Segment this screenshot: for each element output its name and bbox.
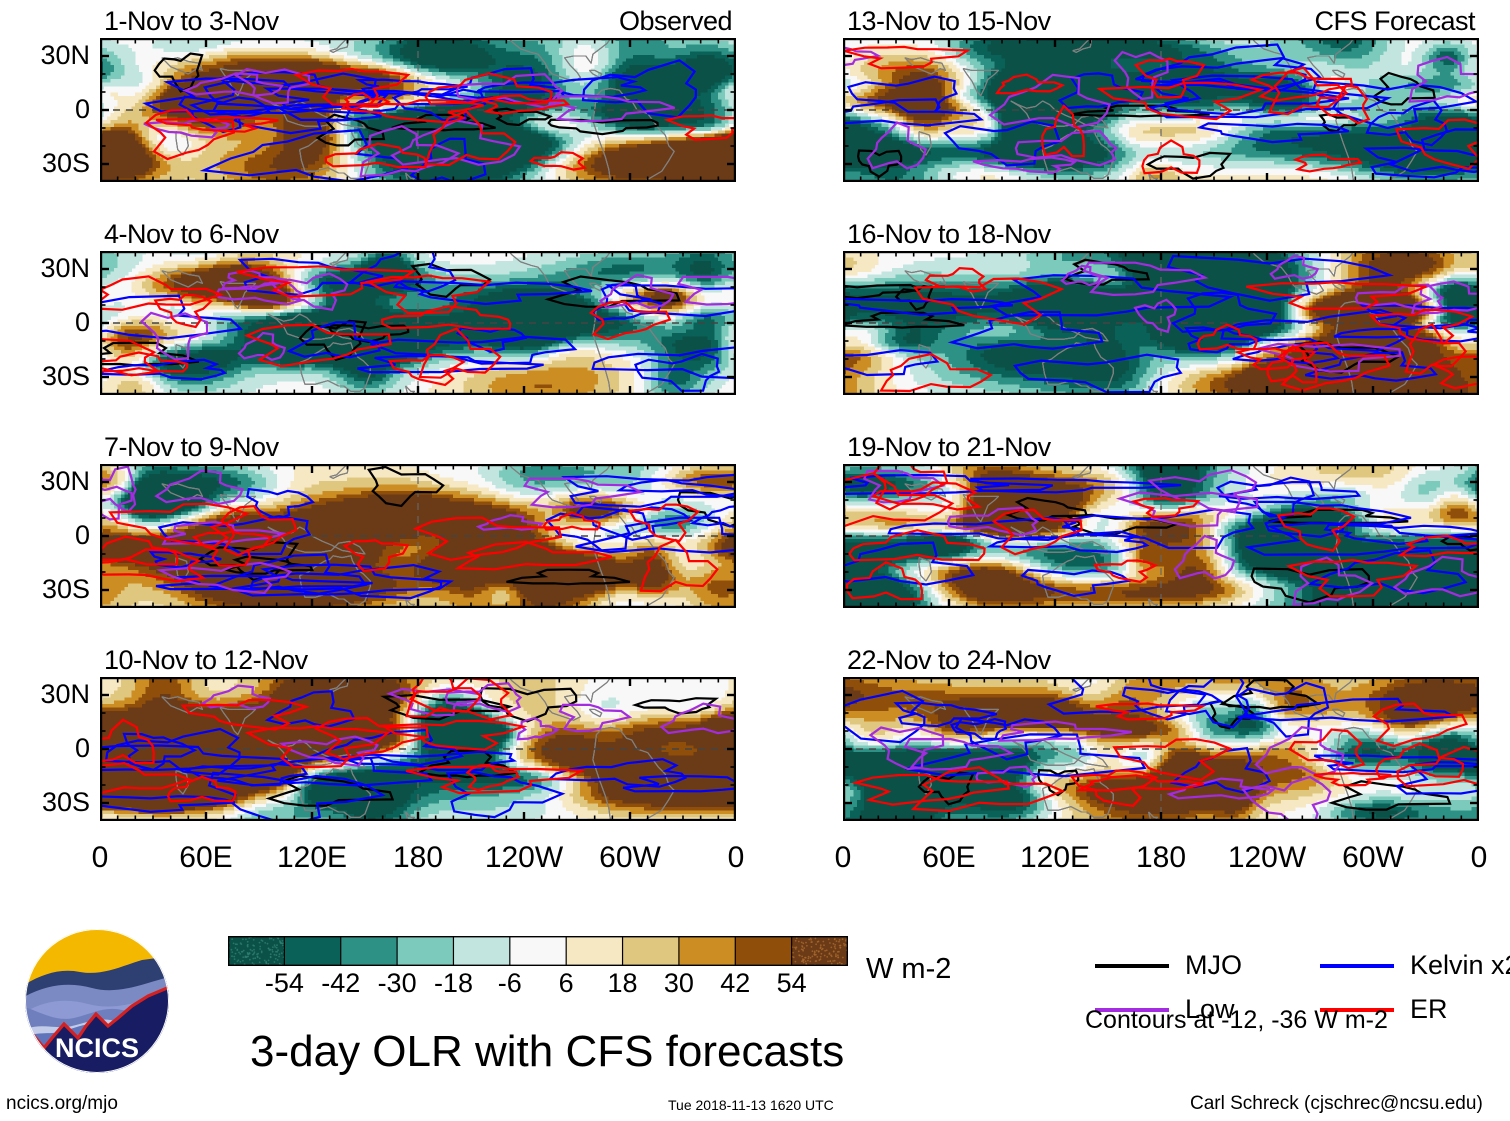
column-header-forecast: CFS Forecast xyxy=(1219,8,1475,35)
map-panel-6[interactable] xyxy=(843,251,1479,395)
map-panel-8[interactable] xyxy=(843,677,1479,821)
colorbar-tick-label: 6 xyxy=(536,970,596,997)
x-tick-label: 60E xyxy=(151,843,261,873)
y-tick-label: 0 xyxy=(4,309,90,336)
colorbar-tick-label: 18 xyxy=(593,970,653,997)
colorbar-swatch xyxy=(453,936,509,966)
legend-line-mjo xyxy=(1095,964,1169,968)
panel-title-4: 10-Nov to 12-Nov xyxy=(104,647,308,674)
colorbar-swatch xyxy=(284,936,340,966)
y-tick-label: 0 xyxy=(4,96,90,123)
timestamp: Tue 2018-11-13 1620 UTC xyxy=(668,1098,834,1112)
y-tick-label: 0 xyxy=(4,522,90,549)
colorbar-tick-label: -6 xyxy=(480,970,540,997)
map-panel-1[interactable] xyxy=(100,38,736,182)
y-tick-label: 30S xyxy=(4,363,90,390)
x-tick-label: 0 xyxy=(788,843,898,873)
legend-line-kelvin-x2 xyxy=(1320,964,1394,968)
colorbar-tick-label: -30 xyxy=(367,970,427,997)
author-credit: Carl Schreck (cjschrec@ncsu.edu) xyxy=(1190,1094,1483,1113)
map-panel-3[interactable] xyxy=(100,464,736,608)
y-tick-label: 30N xyxy=(4,681,90,708)
map-canvas xyxy=(843,677,1479,821)
column-header-observed: Observed xyxy=(476,8,732,35)
page-title: 3-day OLR with CFS forecasts xyxy=(250,1030,844,1074)
x-tick-label: 60E xyxy=(894,843,1004,873)
colorbar-swatch xyxy=(397,936,453,966)
map-panel-2[interactable] xyxy=(100,251,736,395)
colorbar-swatch xyxy=(510,936,566,966)
colorbar-swatch xyxy=(679,936,735,966)
panel-title-5: 13-Nov to 15-Nov xyxy=(847,8,1051,35)
map-canvas xyxy=(100,38,736,182)
panel-title-3: 7-Nov to 9-Nov xyxy=(104,434,279,461)
map-canvas xyxy=(843,251,1479,395)
colorbar-swatch xyxy=(341,936,397,966)
colorbar-swatch xyxy=(735,936,791,966)
colorbar xyxy=(228,936,848,966)
legend-label-er: ER xyxy=(1410,996,1448,1023)
x-tick-label: 180 xyxy=(1106,843,1216,873)
y-tick-label: 30N xyxy=(4,42,90,69)
y-tick-label: 0 xyxy=(4,735,90,762)
map-panel-5[interactable] xyxy=(843,38,1479,182)
ncics-logo: NCICS xyxy=(22,926,172,1076)
map-canvas xyxy=(100,464,736,608)
x-tick-label: 180 xyxy=(363,843,473,873)
colorbar-tick-label: -18 xyxy=(423,970,483,997)
map-canvas xyxy=(843,464,1479,608)
y-tick-label: 30S xyxy=(4,150,90,177)
map-canvas xyxy=(100,677,736,821)
colorbar-tick-label: -42 xyxy=(311,970,371,997)
colorbar-swatch xyxy=(623,936,679,966)
panel-title-7: 19-Nov to 21-Nov xyxy=(847,434,1051,461)
x-tick-label: 60W xyxy=(1318,843,1428,873)
map-canvas xyxy=(843,38,1479,182)
x-tick-label: 60W xyxy=(575,843,685,873)
panel-title-2: 4-Nov to 6-Nov xyxy=(104,221,279,248)
x-tick-label: 0 xyxy=(1424,843,1510,873)
panel-title-8: 22-Nov to 24-Nov xyxy=(847,647,1051,674)
colorbar-tick-label: -54 xyxy=(254,970,314,997)
legend-label-mjo: MJO xyxy=(1185,952,1242,979)
site-url[interactable]: ncics.org/mjo xyxy=(6,1094,118,1113)
ncics-logo-graphic: NCICS xyxy=(22,926,172,1076)
ncics-logo-text: NCICS xyxy=(55,1033,139,1063)
colorbar-tick-label: 54 xyxy=(762,970,822,997)
y-tick-label: 30S xyxy=(4,576,90,603)
y-tick-label: 30N xyxy=(4,255,90,282)
x-tick-label: 0 xyxy=(681,843,791,873)
colorbar-units-label: W m-2 xyxy=(866,955,951,984)
map-canvas xyxy=(100,251,736,395)
panel-title-1: 1-Nov to 3-Nov xyxy=(104,8,279,35)
x-tick-label: 120E xyxy=(257,843,367,873)
panel-title-6: 16-Nov to 18-Nov xyxy=(847,221,1051,248)
contour-note: Contours at -12, -36 W m-2 xyxy=(1085,1008,1388,1033)
legend-label-kelvin-x2: Kelvin x2 xyxy=(1410,952,1510,979)
x-tick-label: 120E xyxy=(1000,843,1110,873)
x-tick-label: 120W xyxy=(1212,843,1322,873)
colorbar-tick-label: 42 xyxy=(705,970,765,997)
y-tick-label: 30S xyxy=(4,789,90,816)
colorbar-tick-label: 30 xyxy=(649,970,709,997)
x-tick-label: 0 xyxy=(45,843,155,873)
colorbar-swatches xyxy=(228,936,848,966)
map-panel-7[interactable] xyxy=(843,464,1479,608)
map-panel-4[interactable] xyxy=(100,677,736,821)
y-tick-label: 30N xyxy=(4,468,90,495)
x-tick-label: 120W xyxy=(469,843,579,873)
colorbar-swatch xyxy=(566,936,622,966)
